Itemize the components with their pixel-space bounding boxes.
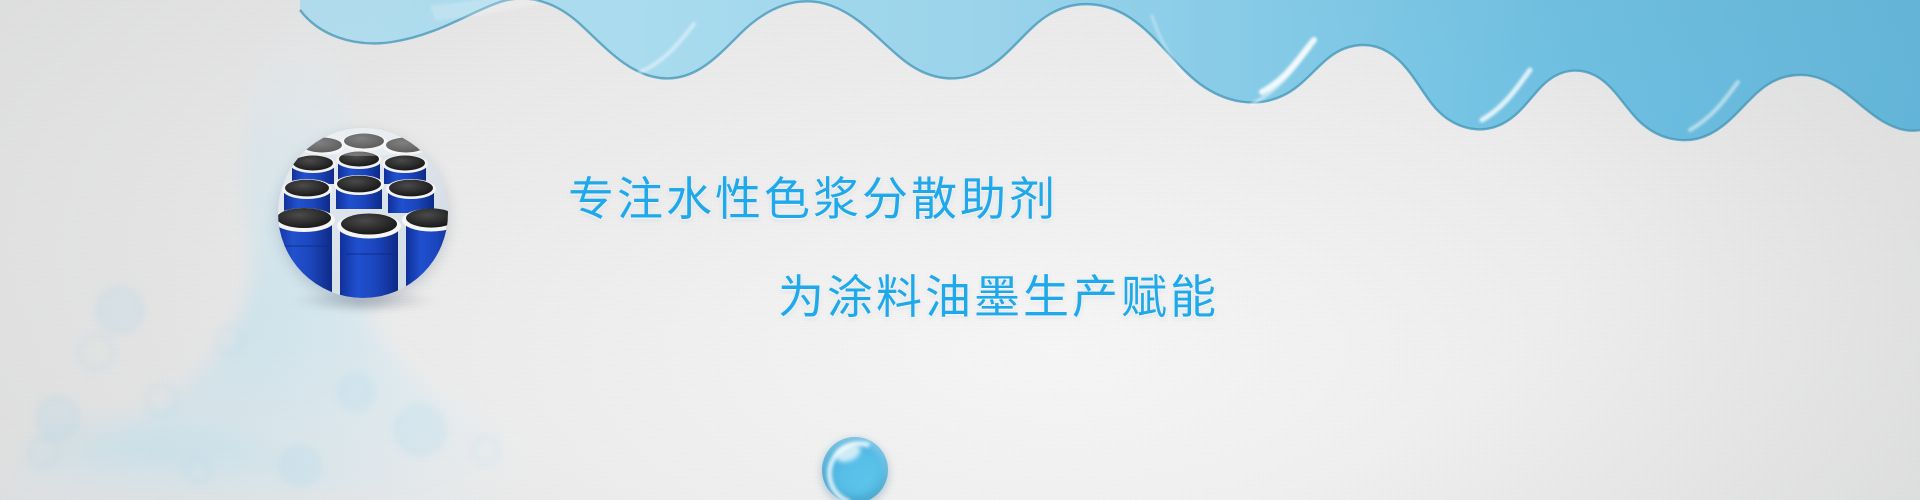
product-image-drums [278, 128, 448, 298]
promo-banner: 专注水性色浆分散助剂 为涂料油墨生产赋能 [0, 0, 1920, 500]
headline-line-2: 为涂料油墨生产赋能 [560, 248, 1520, 346]
water-bubble-icon [822, 437, 888, 500]
headline-block: 专注水性色浆分散助剂 为涂料油墨生产赋能 [560, 150, 1520, 346]
blue-chemical-drums-photo [278, 128, 448, 298]
headline-line-1: 专注水性色浆分散助剂 [560, 150, 1520, 248]
